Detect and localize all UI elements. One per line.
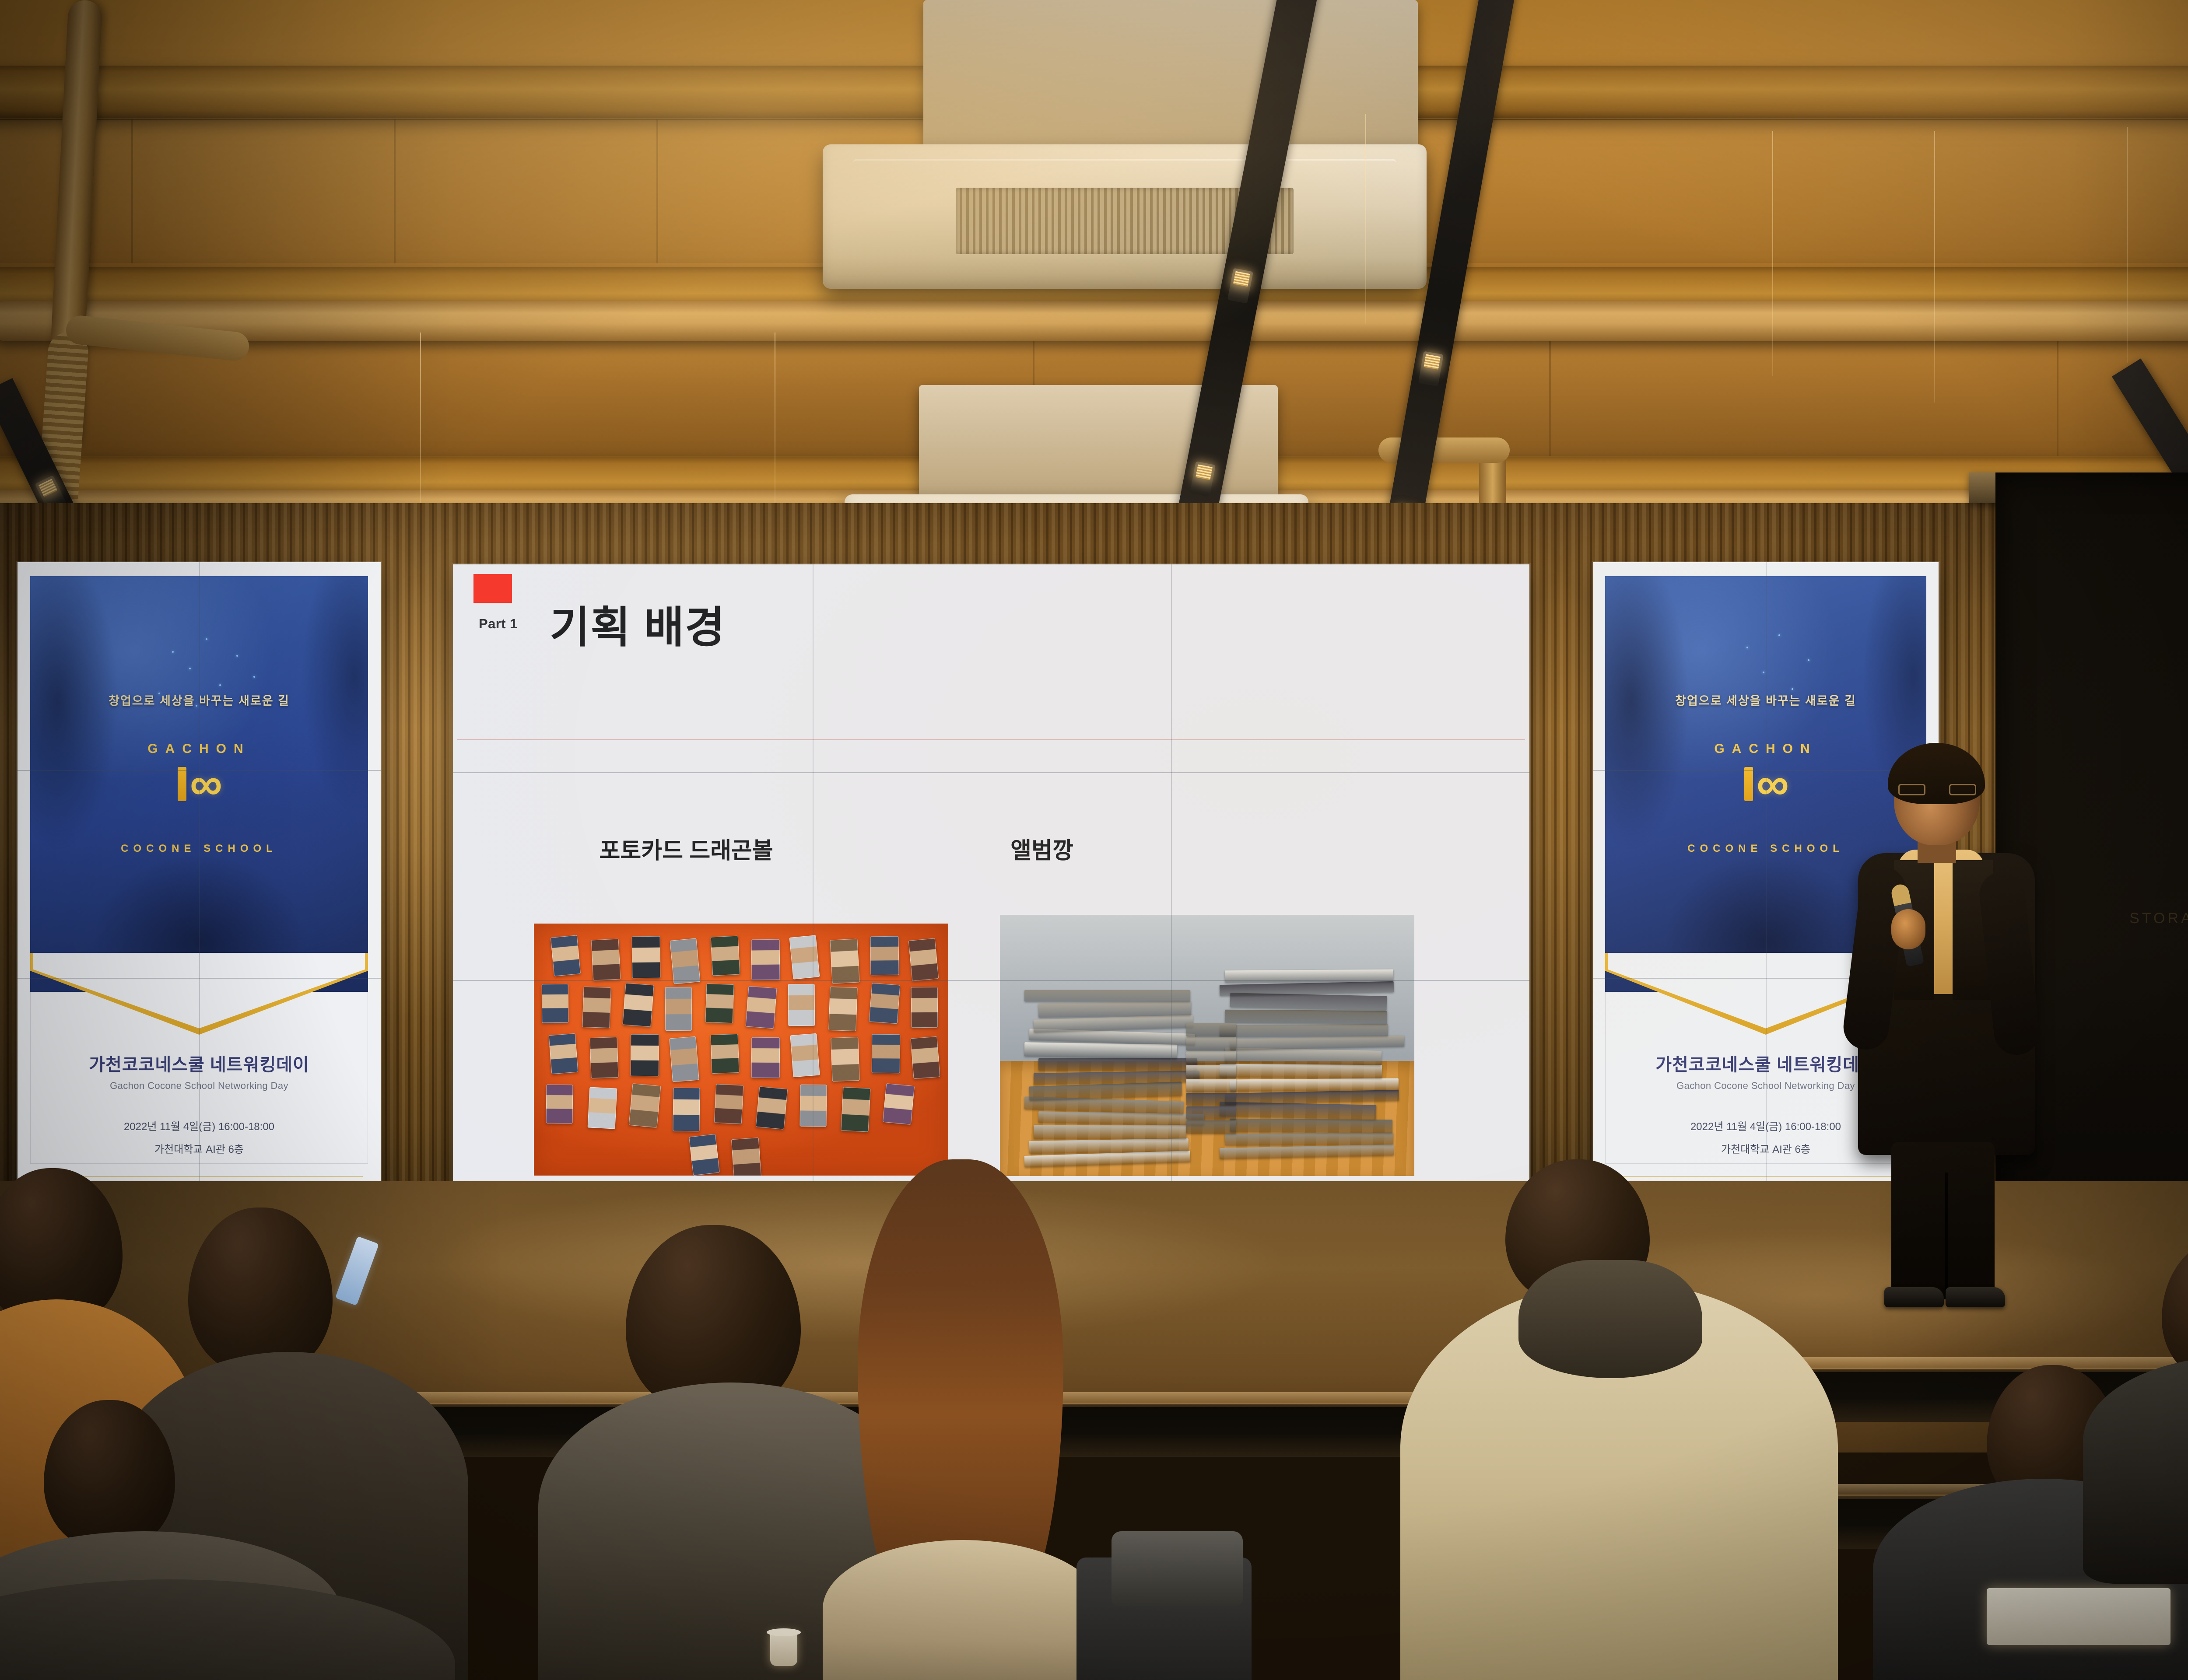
photocard xyxy=(551,935,581,976)
photocard xyxy=(870,936,899,975)
photocard xyxy=(830,938,859,983)
album-case xyxy=(1024,990,1190,1001)
album-case xyxy=(1186,1065,1236,1078)
album-case xyxy=(1024,1042,1177,1058)
photocard xyxy=(751,1037,780,1078)
slide-divider-rule xyxy=(457,739,1525,740)
photocard xyxy=(746,986,777,1029)
poster-logo: ∞ xyxy=(18,767,381,809)
ceiling-light-falloff xyxy=(0,0,2188,564)
album-case xyxy=(1225,969,1393,983)
audience-body xyxy=(823,1540,1103,1680)
album-case xyxy=(1186,1051,1236,1064)
album-case xyxy=(1220,1024,1388,1037)
album-case xyxy=(1186,1023,1236,1036)
slide-part-label: Part 1 xyxy=(479,616,518,632)
poster-brand-bottom: COCONE SCHOOL xyxy=(18,843,381,855)
photocard xyxy=(908,938,939,981)
presentation-hall-photo: STORAGE 창업으로 세상을 바꾸는 새로운 길 GACHON ∞ COCO… xyxy=(0,0,2188,1680)
paper-cup xyxy=(770,1632,797,1666)
photocard xyxy=(622,983,654,1027)
storage-label: STORAGE xyxy=(2083,910,2188,927)
photocard xyxy=(591,938,621,980)
album-case xyxy=(1230,1078,1399,1092)
photocard xyxy=(911,1036,940,1079)
photocard xyxy=(831,1037,860,1081)
photocard xyxy=(590,1037,619,1078)
photocard xyxy=(711,935,740,976)
backpack-strap xyxy=(1112,1531,1243,1606)
album-case xyxy=(1225,1010,1387,1024)
album-case xyxy=(1186,1037,1236,1050)
photocard xyxy=(670,938,700,984)
photocard xyxy=(631,936,660,978)
laptop-icon[interactable] xyxy=(1987,1588,2170,1645)
logo-one-bar xyxy=(1744,767,1753,801)
glasses-icon xyxy=(1898,784,1976,795)
album-case xyxy=(1186,1079,1236,1092)
photocard xyxy=(788,984,815,1026)
slide-caption-right: 앨범깡 xyxy=(1010,832,1073,865)
phone-icon[interactable] xyxy=(335,1236,379,1306)
photocard xyxy=(669,1036,699,1082)
photocard xyxy=(751,939,780,980)
photocard xyxy=(869,983,900,1024)
presenter-hand xyxy=(1891,909,1925,949)
photocard xyxy=(705,983,734,1023)
ceiling xyxy=(0,0,2188,564)
poster-tagline: 창업으로 세상을 바꾸는 새로운 길 xyxy=(18,691,381,708)
logo-infinity: ∞ xyxy=(1757,769,1787,799)
logo-one-bar xyxy=(178,767,186,801)
poster-tagline: 창업으로 세상을 바꾸는 새로운 길 xyxy=(1593,691,1939,708)
photocard xyxy=(790,1033,820,1078)
slide-accent-bar xyxy=(473,574,512,603)
photocard xyxy=(631,1034,659,1077)
photocard xyxy=(872,1034,901,1074)
audience xyxy=(0,1094,2188,1680)
photocard xyxy=(549,1033,578,1074)
album-case xyxy=(1038,1001,1191,1018)
photocard xyxy=(828,987,857,1031)
poster-brand-top: GACHON xyxy=(18,742,381,756)
slide-caption-left: 포토카드 드래곤볼 xyxy=(600,832,773,865)
photocard xyxy=(582,987,611,1028)
logo-infinity: ∞ xyxy=(190,769,221,799)
photocard xyxy=(911,987,938,1028)
photocard xyxy=(710,1034,739,1074)
audience-head xyxy=(188,1207,333,1374)
photocard xyxy=(542,984,568,1023)
album-case xyxy=(1038,1058,1198,1071)
slide-title: 기획 배경 xyxy=(550,592,726,655)
poster-title-english: Gachon Cocone School Networking Day xyxy=(18,1080,381,1092)
photocard xyxy=(789,935,819,979)
hoodie-hood xyxy=(1518,1260,1702,1378)
album-case xyxy=(1220,1064,1382,1078)
poster-title-korean: 가천코코네스쿨 네트워킹데이 xyxy=(18,1050,381,1076)
photocard xyxy=(665,987,691,1031)
